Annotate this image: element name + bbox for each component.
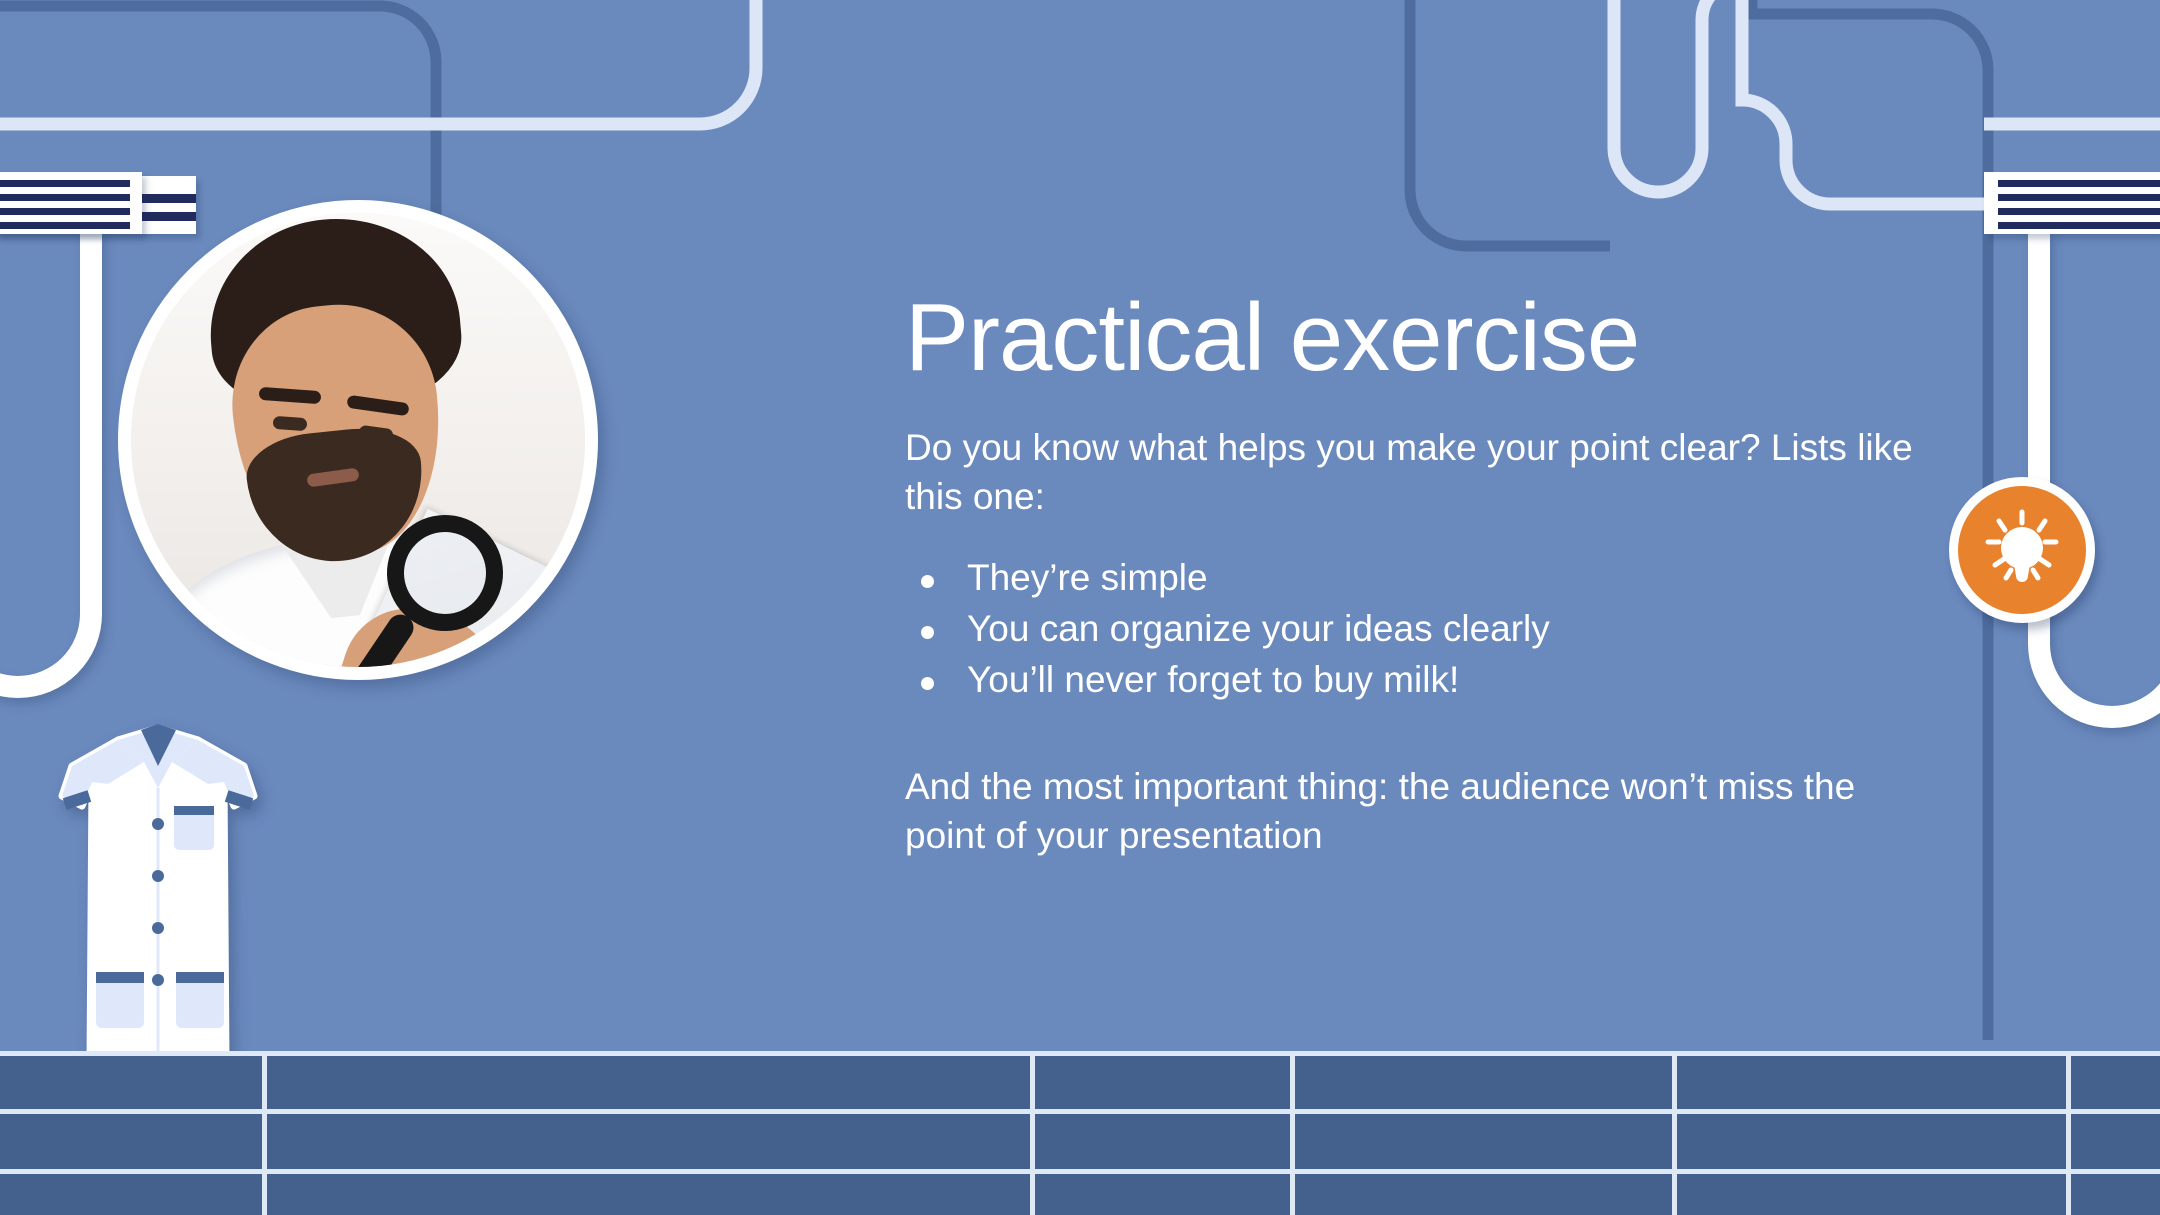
test-tube-left-label-group xyxy=(0,172,142,234)
tile-line-horizontal xyxy=(0,1169,2160,1174)
tile-line-vertical xyxy=(262,1051,267,1215)
tile-line-vertical xyxy=(1290,1051,1295,1215)
circular-photo xyxy=(118,200,598,680)
list-item: You can organize your ideas clearly xyxy=(905,606,1965,653)
lab-coat-illustration xyxy=(48,722,268,1082)
label-stripe xyxy=(0,180,130,187)
test-tube-left-body xyxy=(0,228,102,698)
tile-line-vertical xyxy=(2066,1051,2071,1215)
list-item: You’ll never forget to buy milk! xyxy=(905,657,1965,704)
label-stripe xyxy=(0,194,130,201)
bullet-list: They’re simple You can organize your ide… xyxy=(905,555,1965,704)
slide-content: Practical exercise Do you know what help… xyxy=(905,288,1965,861)
closing-paragraph: And the most important thing: the audien… xyxy=(905,762,1935,860)
label-stripe xyxy=(1998,208,2160,215)
label-stripe xyxy=(1998,180,2160,187)
test-tube-right-body xyxy=(2028,228,2160,728)
test-tube-right-label xyxy=(1984,172,2160,234)
label-stripe xyxy=(1998,222,2160,229)
tile-line-horizontal xyxy=(0,1051,2160,1056)
label-stripe xyxy=(0,208,130,215)
page-title: Practical exercise xyxy=(905,288,1965,389)
photo-eye xyxy=(273,416,308,431)
tile-line-vertical xyxy=(1672,1051,1677,1215)
tile-line-horizontal xyxy=(0,1109,2160,1114)
lightbulb-icon xyxy=(1976,504,2068,596)
bottom-tile-band xyxy=(0,1051,2160,1215)
label-stripe xyxy=(1998,194,2160,201)
tile-line-vertical xyxy=(1030,1051,1035,1215)
lightbulb-badge xyxy=(1949,477,2095,623)
test-tube-right xyxy=(2034,176,2160,736)
label-stripe xyxy=(0,222,130,229)
photo-scene xyxy=(131,213,585,667)
list-item: They’re simple xyxy=(905,555,1965,602)
presentation-slide: Practical exercise Do you know what help… xyxy=(0,0,2160,1215)
test-tube-left xyxy=(0,176,126,716)
lead-paragraph: Do you know what helps you make your poi… xyxy=(905,423,1965,521)
